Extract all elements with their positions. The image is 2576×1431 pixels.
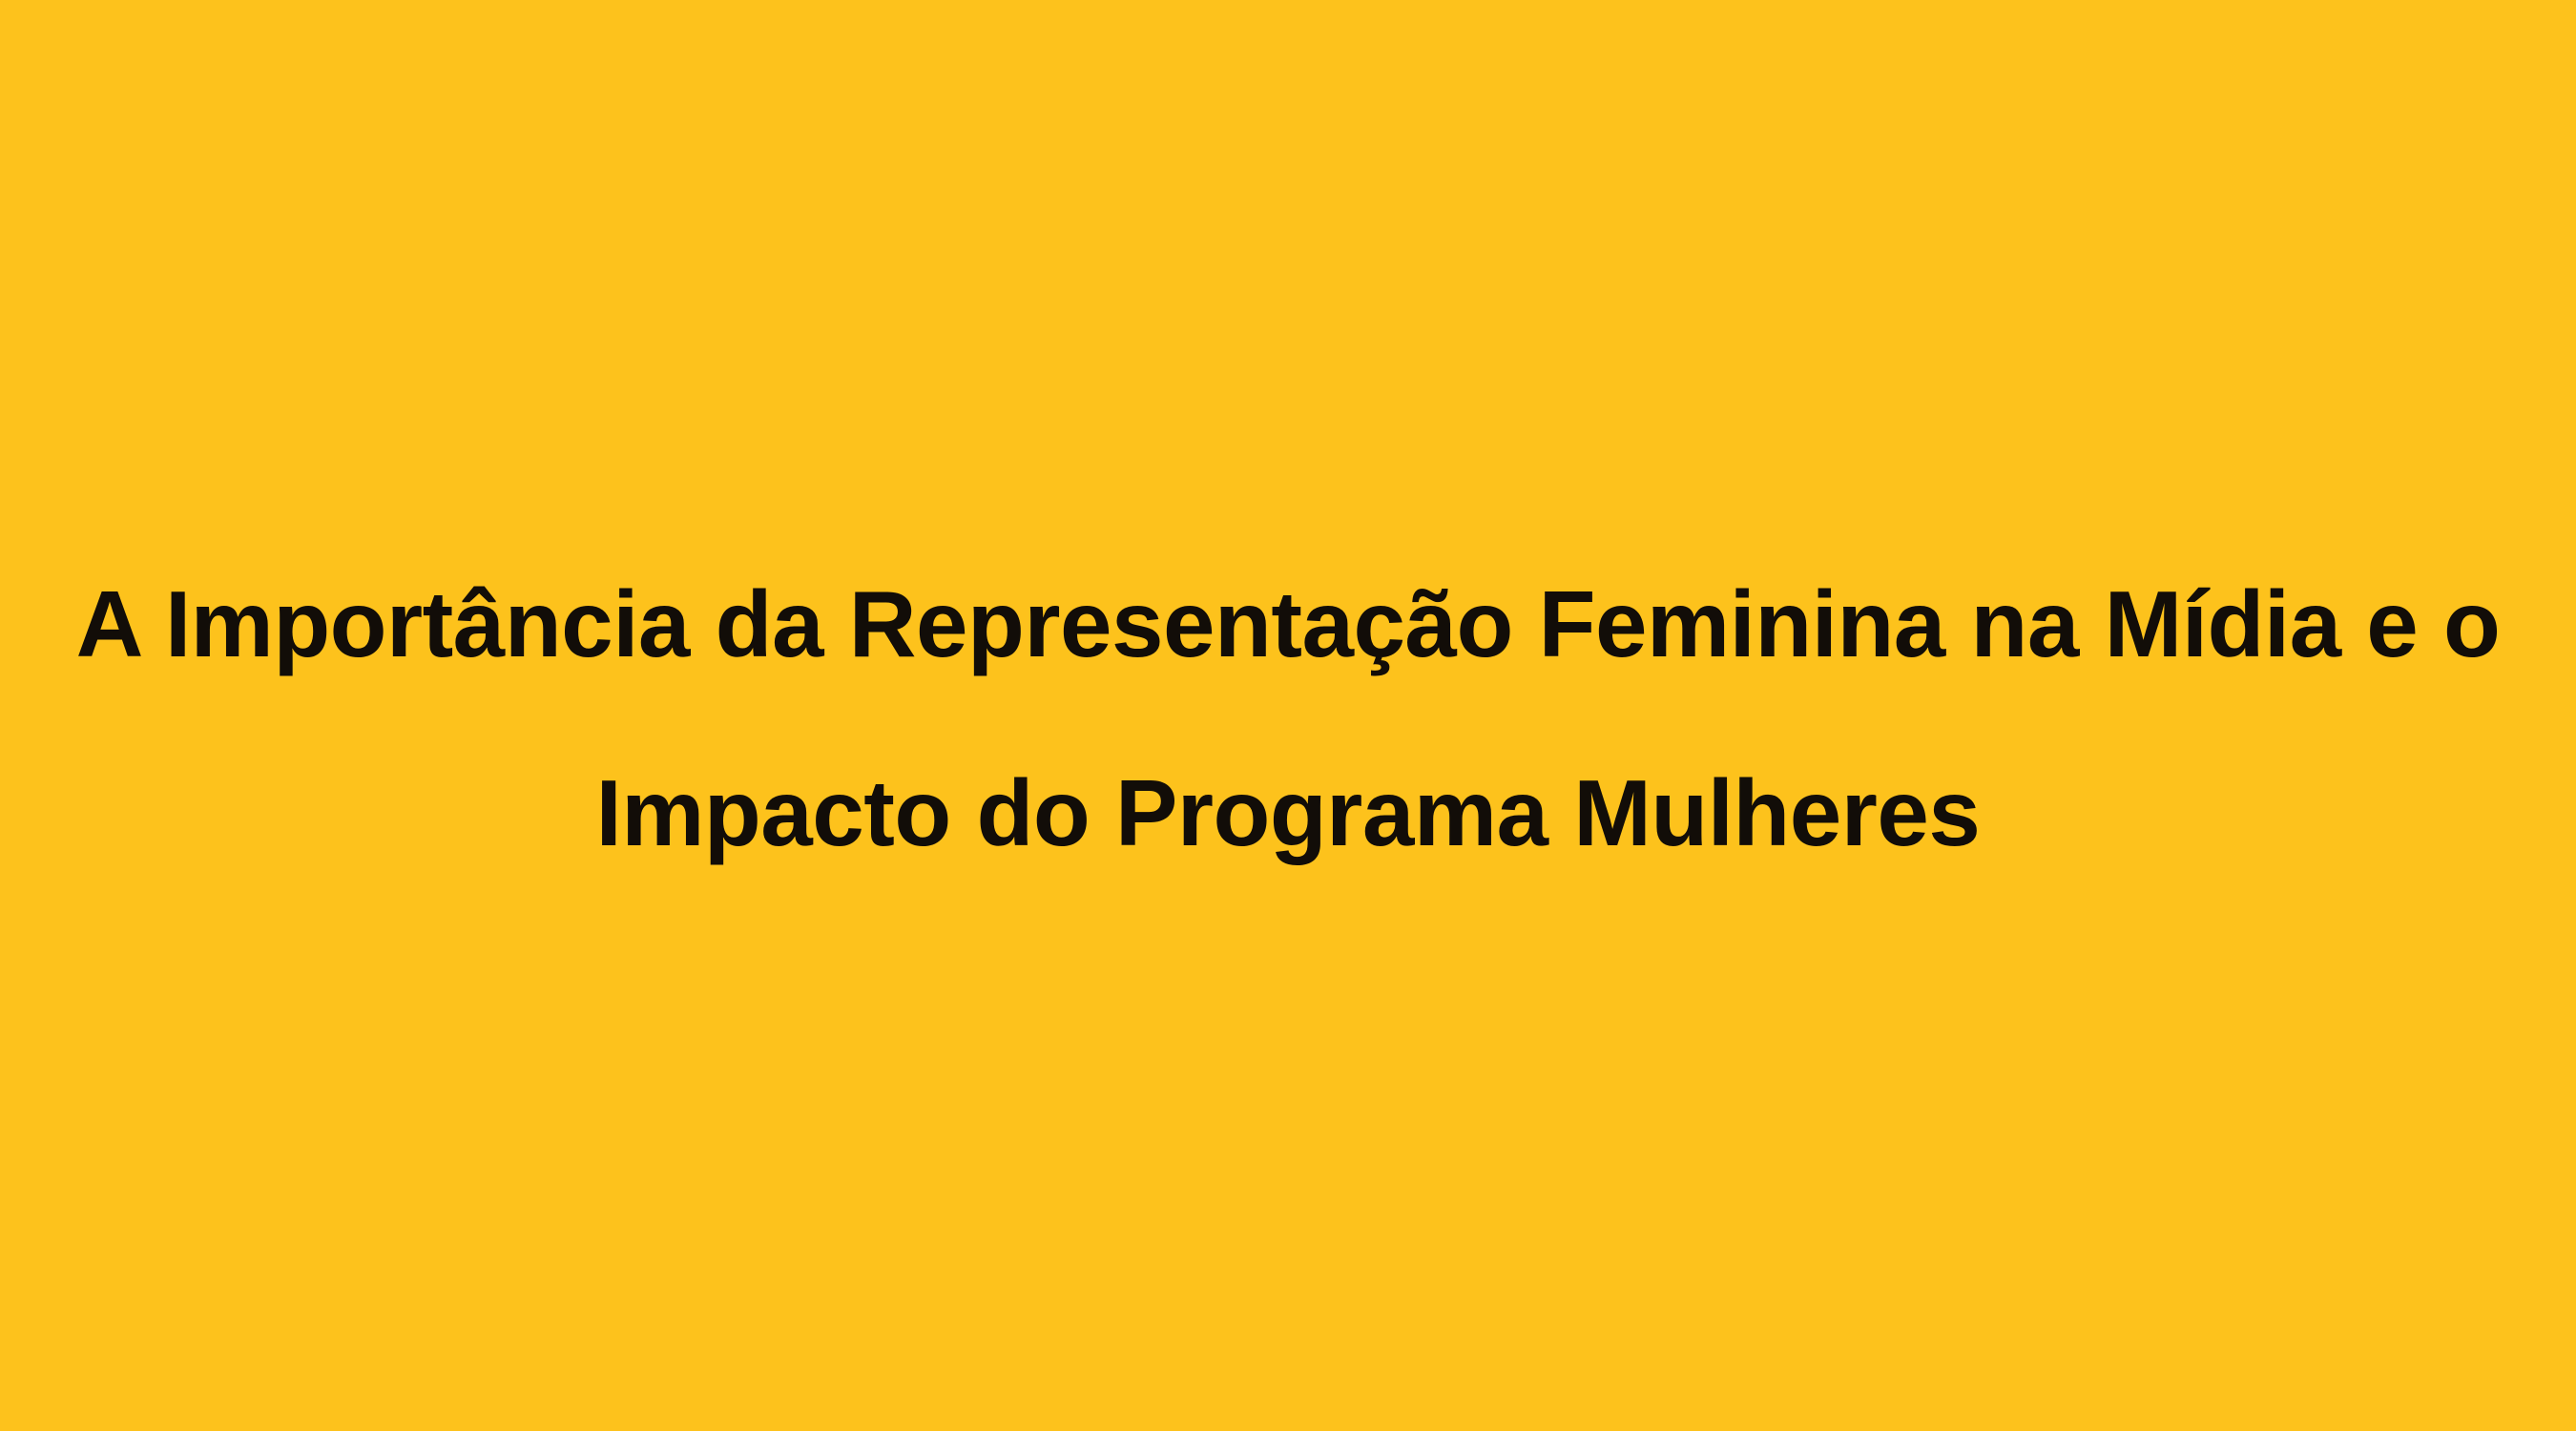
headline-line-1: A Importância da Representação Feminina … <box>0 529 2576 718</box>
headline-line-2: Impacto do Programa Mulheres <box>0 718 2576 907</box>
title-card: A Importância da Representação Feminina … <box>0 0 2576 1431</box>
headline-block: A Importância da Representação Feminina … <box>0 529 2576 907</box>
